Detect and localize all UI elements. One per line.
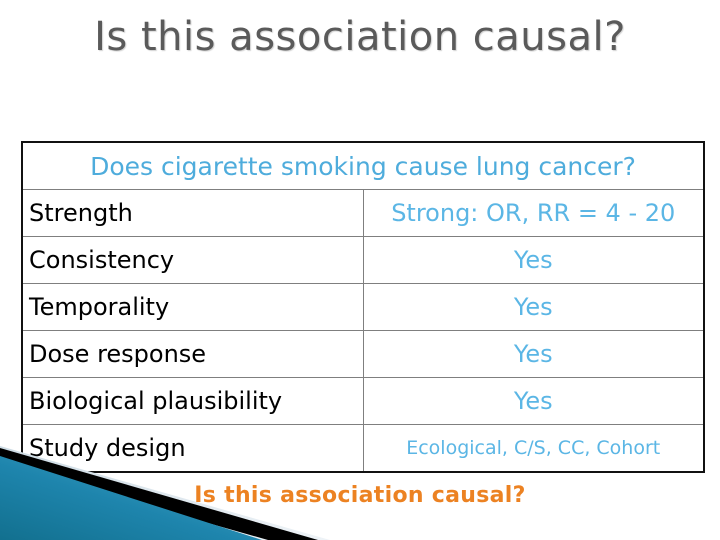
- table-row: Consistency Yes: [22, 237, 704, 284]
- table-row: Strength Strong: OR, RR = 4 - 20: [22, 190, 704, 237]
- row-label-consistency: Consistency: [22, 237, 363, 284]
- slide-caption: Is this association causal?: [0, 483, 720, 508]
- table-row: Dose response Yes: [22, 331, 704, 378]
- row-value-consistency: Yes: [363, 237, 704, 284]
- table-header-row: Does cigarette smoking cause lung cancer…: [22, 142, 704, 190]
- row-value-temporality: Yes: [363, 284, 704, 331]
- row-label-dose-response: Dose response: [22, 331, 363, 378]
- table-row: Study design Ecological, C/S, CC, Cohort: [22, 425, 704, 473]
- row-label-study-design: Study design: [22, 425, 363, 473]
- table-row: Biological plausibility Yes: [22, 378, 704, 425]
- row-label-temporality: Temporality: [22, 284, 363, 331]
- page-title: Is this association causal?: [0, 14, 720, 60]
- table-header-cell: Does cigarette smoking cause lung cancer…: [22, 142, 704, 190]
- row-value-dose-response: Yes: [363, 331, 704, 378]
- row-label-biological-plausibility: Biological plausibility: [22, 378, 363, 425]
- row-label-strength: Strength: [22, 190, 363, 237]
- causality-criteria-table: Does cigarette smoking cause lung cancer…: [21, 141, 705, 473]
- table-row: Temporality Yes: [22, 284, 704, 331]
- slide-canvas: Is this association causal? Does cigaret…: [0, 0, 720, 540]
- row-value-biological-plausibility: Yes: [363, 378, 704, 425]
- row-value-study-design: Ecological, C/S, CC, Cohort: [363, 425, 704, 473]
- row-value-strength: Strong: OR, RR = 4 - 20: [363, 190, 704, 237]
